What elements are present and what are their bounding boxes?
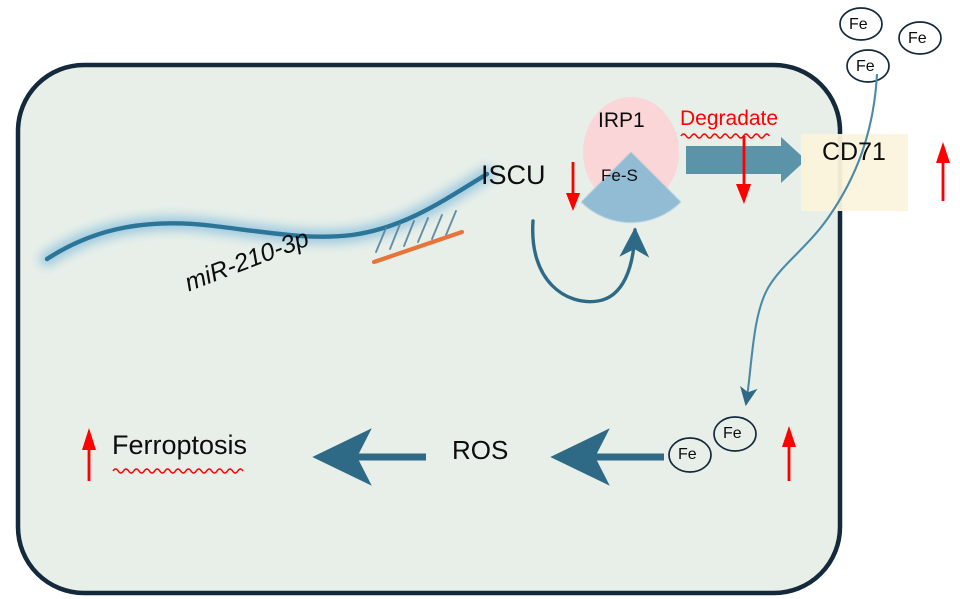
label-irp1: IRP1 [598,110,645,131]
red-up-arrow-cd71 [936,142,950,201]
label-cd71: CD71 [822,140,886,165]
pathway-diagram: ISCU IRP1 Fe-S Degradate CD71 ROS Ferrop… [0,0,960,599]
label-degradate: Degradate [680,108,778,129]
fe-label: Fe [849,16,868,34]
cell-membrane [18,65,840,593]
fe-label: Fe [678,446,697,464]
label-iscu: ISCU [481,162,546,189]
label-ros: ROS [452,437,508,463]
label-fe-s: Fe-S [601,167,638,184]
diagram-canvas [0,0,960,599]
fe-label: Fe [723,425,742,443]
fe-label: Fe [908,30,927,48]
fe-label: Fe [856,58,875,76]
label-ferroptosis: Ferroptosis [112,432,247,459]
